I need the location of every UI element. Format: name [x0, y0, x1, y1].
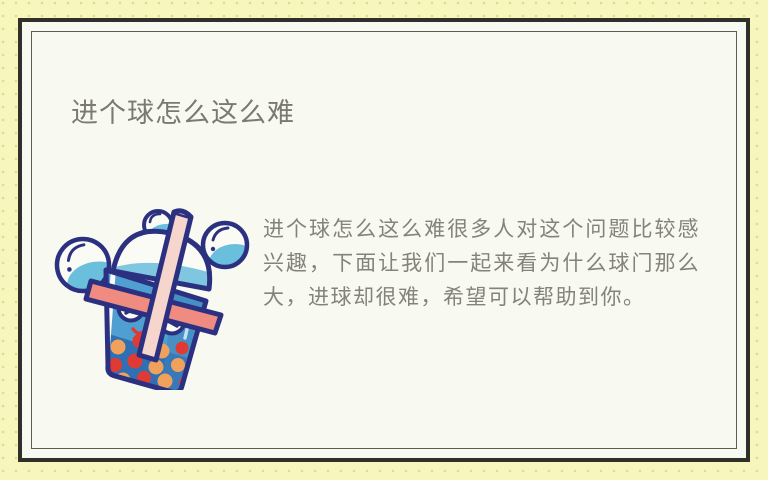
- outer-frame-border: 进个球怎么这么难: [18, 18, 750, 462]
- inner-frame-border: 进个球怎么这么难: [31, 31, 737, 449]
- article-body: 进个球怎么这么难很多人对这个问题比较感兴趣，下面让我们一起来看为什么球门那么大，…: [263, 213, 700, 315]
- article-canvas: 进个球怎么这么难: [32, 32, 736, 448]
- page-title: 进个球怎么这么难: [71, 97, 295, 131]
- page-background: 进个球怎么这么难: [0, 0, 768, 480]
- bubble-tea-illustration: [43, 175, 253, 390]
